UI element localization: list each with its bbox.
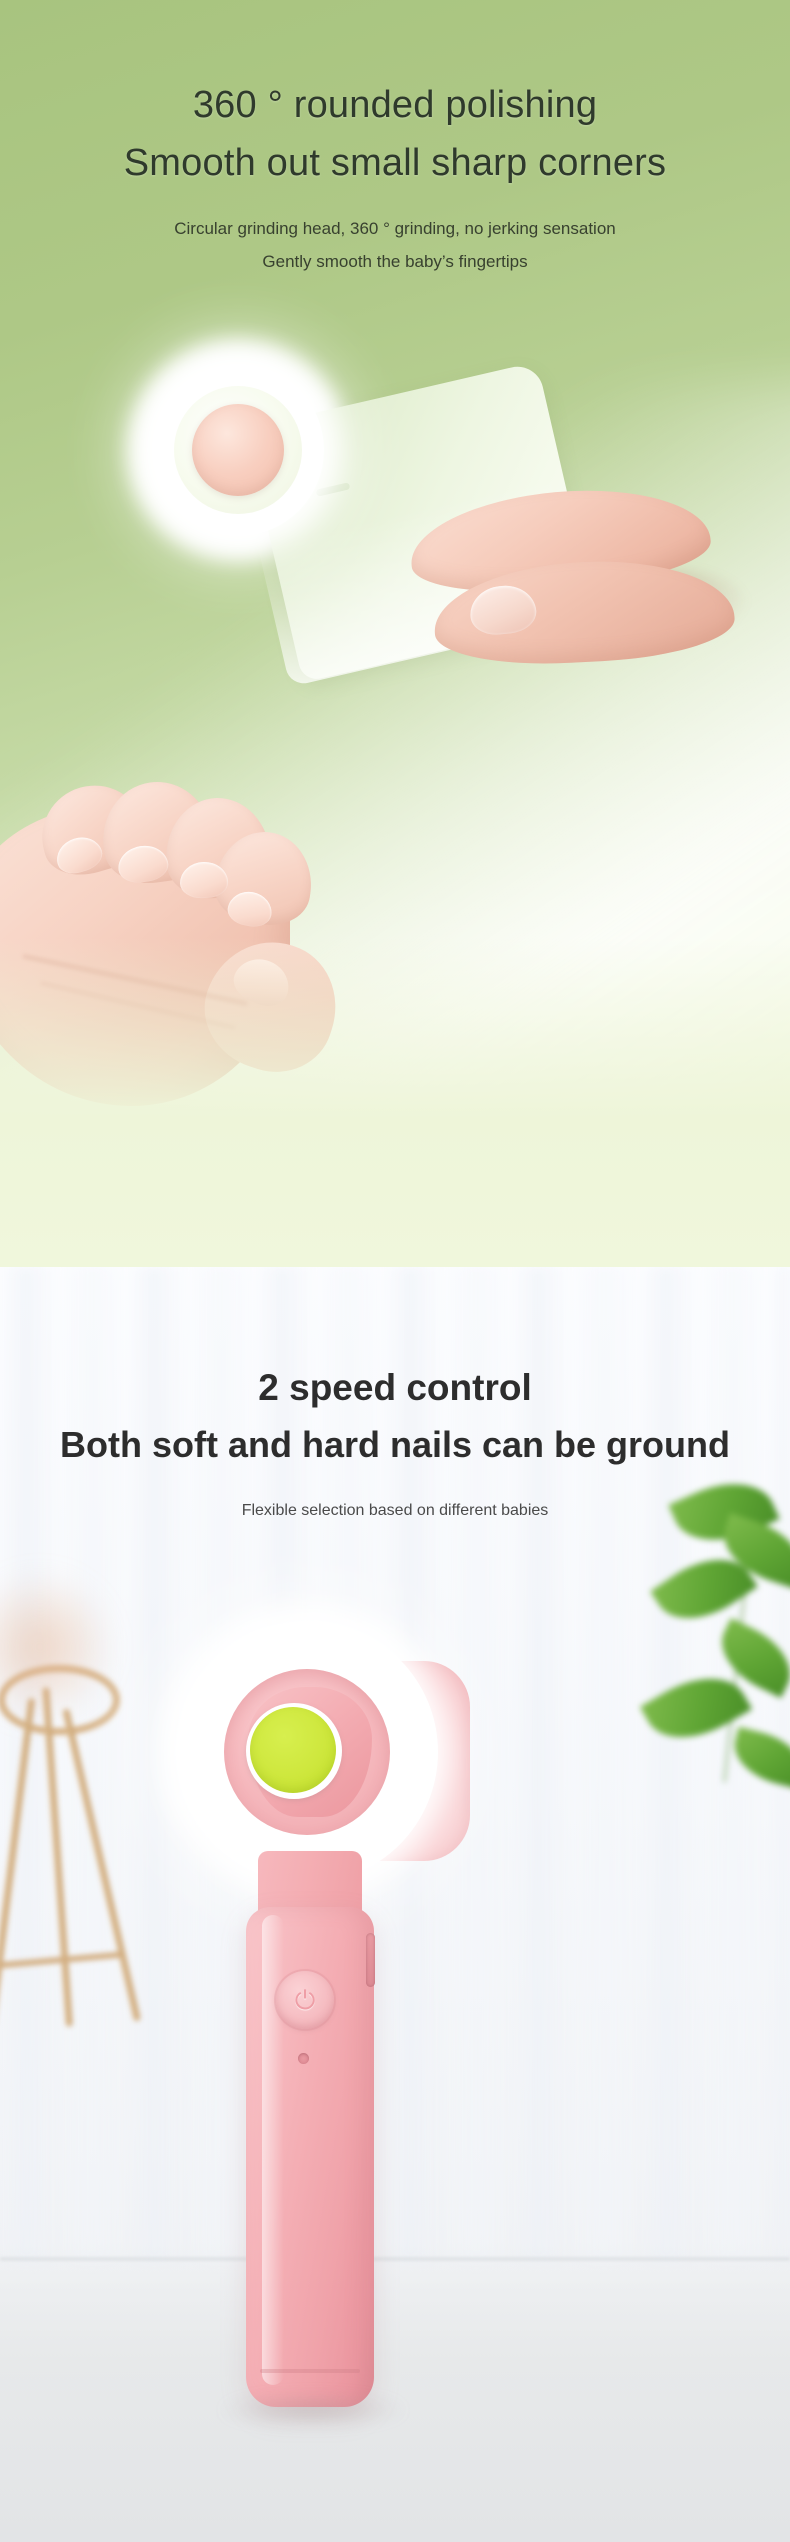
device-side-slot [366,1933,375,1987]
panel1-description-line-2: Gently smooth the baby’s fingertips [0,249,790,275]
plant-decoration [596,1483,790,1813]
power-button[interactable]: ⏻ [276,1971,334,2029]
panel1-headline-secondary: Smooth out small sharp corners [0,140,790,186]
panel2-description-line-1: Flexible selection based on different ba… [0,1499,790,1523]
wicker-leg [62,1708,141,2021]
panel1-bottom-fade [0,937,790,1267]
panel1-description-line-1: Circular grinding head, 360 ° grinding, … [0,216,790,242]
panel1-headline-primary: 360 ° rounded polishing [0,82,790,128]
panel2-headline-primary: 2 speed control [0,1365,790,1411]
device-foot-line [260,2369,360,2373]
panel-360-polishing: 360 ° rounded polishing Smooth out small… [0,0,790,1267]
adult-hand-holding-device [400,452,790,732]
wicker-leg [0,1698,35,2026]
grinding-disc-green [250,1707,336,1793]
grinding-head [192,404,284,496]
indicator-led [298,2053,309,2064]
pink-nail-trimmer-device: ⏻ [170,1615,470,2425]
device-shadow [218,2393,408,2427]
panel1-headline-primary-text: 360 ° rounded polishing [193,84,597,126]
panel-2-speed-control: ⏻ 2 speed control Both soft and hard nai… [0,1267,790,2542]
leaf-icon [728,1727,790,1790]
panel2-headline-secondary: Both soft and hard nails can be ground [0,1422,790,1468]
power-icon: ⏻ [295,1987,316,2013]
product-detail-page: 360 ° rounded polishing Smooth out small… [0,0,790,2542]
